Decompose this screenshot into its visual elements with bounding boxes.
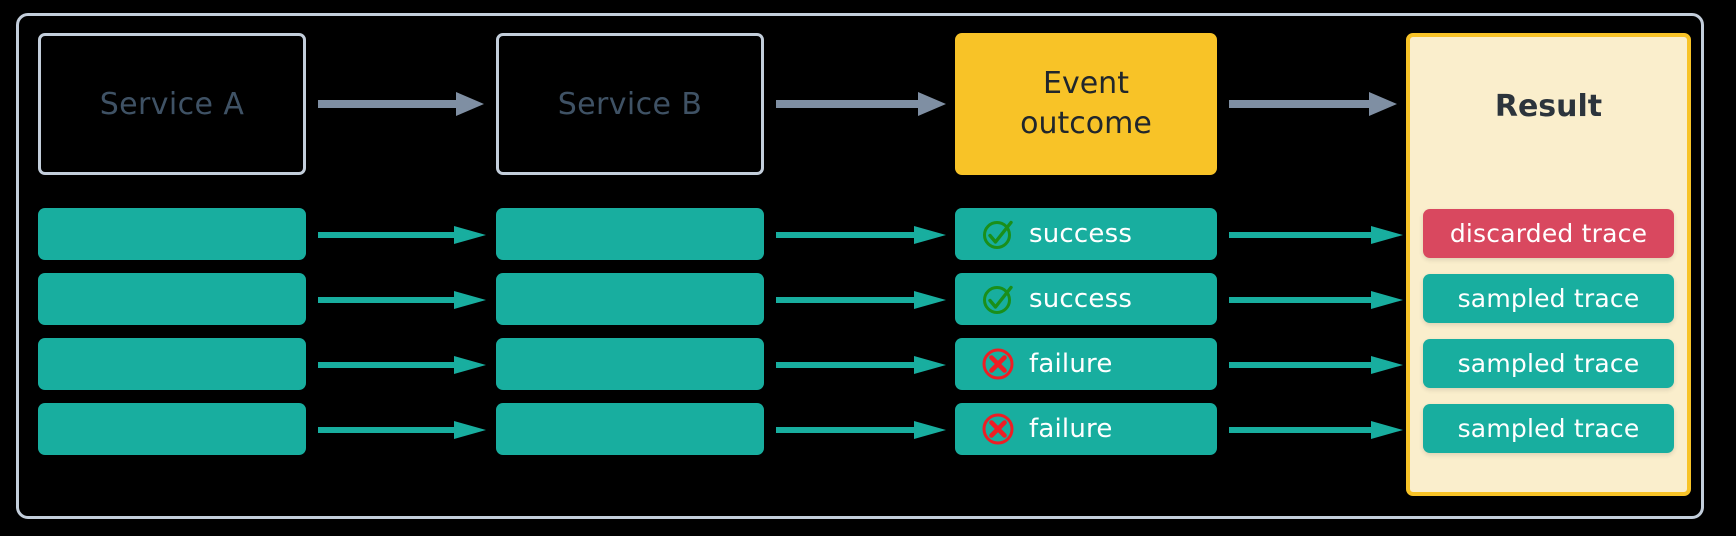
- row-4-service-a-bar[interactable]: [38, 403, 306, 455]
- row-1-service-b-bar[interactable]: [496, 208, 764, 260]
- row-4-arrow-a-to-b: [316, 419, 488, 441]
- column-header-event-outcome-line2: outcome: [1020, 104, 1152, 144]
- row-3-arrow-a-to-b: [316, 354, 488, 376]
- row-2-outcome-pill[interactable]: success: [955, 273, 1217, 325]
- row-1-service-a-bar[interactable]: [38, 208, 306, 260]
- row-4-arrow-b-to-outcome: [774, 419, 948, 441]
- row-1-arrow-a-to-b: [316, 224, 488, 246]
- row-2-arrow-b-to-outcome: [774, 289, 948, 311]
- row-4-result-label: sampled trace: [1458, 414, 1640, 443]
- row-2-service-b-bar[interactable]: [496, 273, 764, 325]
- row-4-outcome-label: failure: [1029, 414, 1113, 444]
- diagram-canvas: Service A Service B Event outcome Result: [0, 0, 1736, 536]
- row-1-arrow-b-to-outcome: [774, 224, 948, 246]
- table-row: success discarded trace: [0, 208, 1736, 260]
- row-2-outcome-label: success: [1029, 284, 1132, 314]
- row-3-arrow-b-to-outcome: [774, 354, 948, 376]
- row-4-arrow-outcome-to-result: [1227, 419, 1405, 441]
- column-header-service-a: Service A: [38, 33, 306, 175]
- row-3-arrow-outcome-to-result: [1227, 354, 1405, 376]
- row-2-service-a-bar[interactable]: [38, 273, 306, 325]
- row-2-arrow-a-to-b: [316, 289, 488, 311]
- row-3-service-a-bar[interactable]: [38, 338, 306, 390]
- table-row: failure sampled trace: [0, 338, 1736, 390]
- row-4-outcome-pill[interactable]: failure: [955, 403, 1217, 455]
- arrow-service-a-to-service-b: [316, 86, 486, 122]
- row-4-service-b-bar[interactable]: [496, 403, 764, 455]
- row-1-outcome-label: success: [1029, 219, 1132, 249]
- check-circle-icon: [981, 282, 1015, 316]
- column-header-service-b: Service B: [496, 33, 764, 175]
- arrow-event-outcome-to-result: [1227, 86, 1399, 122]
- row-3-service-b-bar[interactable]: [496, 338, 764, 390]
- check-circle-icon: [981, 217, 1015, 251]
- table-row: failure sampled trace: [0, 403, 1736, 455]
- row-4-result-pill[interactable]: sampled trace: [1423, 404, 1674, 453]
- column-header-event-outcome-line1: Event: [1020, 64, 1152, 104]
- row-3-result-pill[interactable]: sampled trace: [1423, 339, 1674, 388]
- row-1-arrow-outcome-to-result: [1227, 224, 1405, 246]
- table-row: success sampled trace: [0, 273, 1736, 325]
- row-2-arrow-outcome-to-result: [1227, 289, 1405, 311]
- x-circle-icon: [981, 412, 1015, 446]
- column-header-event-outcome: Event outcome: [955, 33, 1217, 175]
- x-circle-icon: [981, 347, 1015, 381]
- row-3-outcome-label: failure: [1029, 349, 1113, 379]
- row-3-result-label: sampled trace: [1458, 349, 1640, 378]
- row-1-result-label: discarded trace: [1450, 219, 1647, 248]
- arrow-service-b-to-event-outcome: [774, 86, 948, 122]
- row-2-result-label: sampled trace: [1458, 284, 1640, 313]
- row-2-result-pill[interactable]: sampled trace: [1423, 274, 1674, 323]
- row-3-outcome-pill[interactable]: failure: [955, 338, 1217, 390]
- row-1-outcome-pill[interactable]: success: [955, 208, 1217, 260]
- row-1-result-pill[interactable]: discarded trace: [1423, 209, 1674, 258]
- column-header-service-a-label: Service A: [100, 87, 245, 122]
- result-panel-title: Result: [1410, 89, 1687, 124]
- column-header-service-b-label: Service B: [558, 87, 703, 122]
